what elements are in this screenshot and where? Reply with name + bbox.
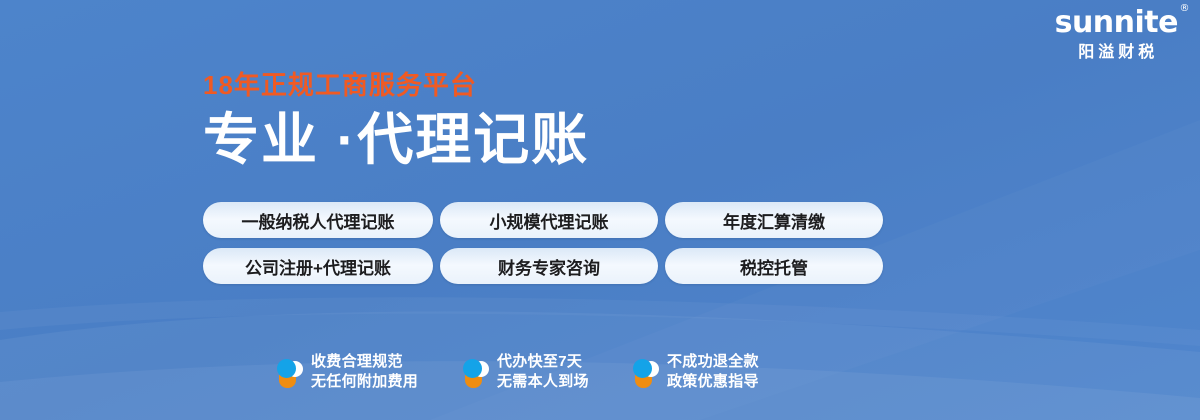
feature-line-primary: 代办快至7天	[497, 352, 589, 372]
feature-list: 收费合理规范 无任何附加费用 代办快至7天 无需本人到场 不成功退全款	[276, 352, 812, 392]
feature-line-secondary: 无任何附加费用	[311, 372, 418, 392]
service-pill-finance-consulting[interactable]: 财务专家咨询	[440, 248, 658, 284]
service-pill-company-registration[interactable]: 公司注册+代理记账	[203, 248, 433, 284]
eyebrow-text: 18年正规工商服务平台	[203, 72, 589, 98]
feature-line-secondary: 无需本人到场	[497, 372, 589, 392]
page-title: 专业 ·代理记账	[203, 112, 589, 168]
service-pill-row: 一般纳税人代理记账 小规模代理记账 年度汇算清缴	[203, 202, 883, 238]
registered-trademark-icon: ®	[1180, 4, 1190, 14]
service-pill-tax-control-hosting[interactable]: 税控托管	[665, 248, 883, 284]
eclipse-icon	[276, 356, 302, 388]
service-pill-small-scale[interactable]: 小规模代理记账	[440, 202, 658, 238]
feature-line-secondary: 政策优惠指导	[667, 372, 759, 392]
feature-item-speed: 代办快至7天 无需本人到场	[462, 352, 632, 392]
logo-wordmark: sunnite ®	[1055, 8, 1178, 38]
feature-text: 收费合理规范 无任何附加费用	[311, 352, 418, 392]
eclipse-icon	[632, 356, 658, 388]
service-pill-grid: 一般纳税人代理记账 小规模代理记账 年度汇算清缴 公司注册+代理记账 财务专家咨…	[203, 202, 883, 294]
brand-logo: sunnite ® 阳溢财税	[1055, 8, 1178, 61]
logo-chinese-name: 阳溢财税	[1055, 45, 1178, 61]
logo-wordmark-text: sunnite	[1055, 5, 1178, 40]
feature-item-pricing: 收费合理规范 无任何附加费用	[276, 352, 462, 392]
feature-line-primary: 收费合理规范	[311, 352, 418, 372]
service-pill-row: 公司注册+代理记账 财务专家咨询 税控托管	[203, 248, 883, 284]
feature-text: 代办快至7天 无需本人到场	[497, 352, 589, 392]
service-pill-general-taxpayer[interactable]: 一般纳税人代理记账	[203, 202, 433, 238]
feature-item-guarantee: 不成功退全款 政策优惠指导	[632, 352, 812, 392]
feature-line-primary: 不成功退全款	[667, 352, 759, 372]
headline-block: 18年正规工商服务平台 专业 ·代理记账	[203, 72, 589, 168]
eclipse-icon	[462, 356, 488, 388]
feature-text: 不成功退全款 政策优惠指导	[667, 352, 759, 392]
promo-banner: sunnite ® 阳溢财税 18年正规工商服务平台 专业 ·代理记账 一般纳税…	[0, 0, 1200, 420]
service-pill-annual-settlement[interactable]: 年度汇算清缴	[665, 202, 883, 238]
